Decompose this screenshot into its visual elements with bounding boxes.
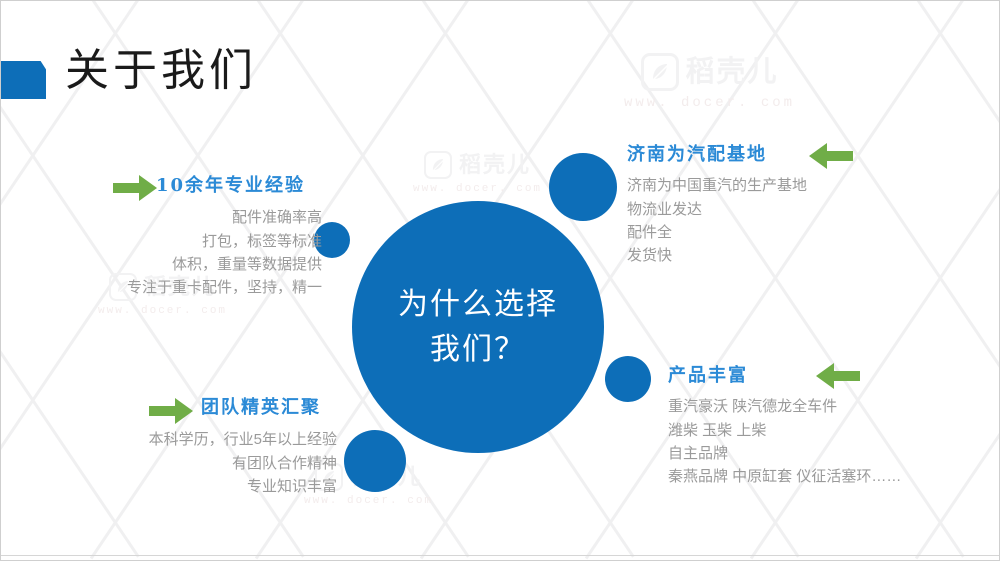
feature-line: 济南为中国重汽的生产基地 [627,174,927,197]
central-circle-label: 为什么选择我们？ [398,282,558,372]
feature-line: 专业知识丰富 [1,475,337,498]
feature-line: 秦燕品牌 中原缸套 仪征活塞环…… [668,465,968,488]
watermark-brand: 稻壳儿 [686,58,779,87]
feature-line: 自主品牌 [668,442,968,465]
feature-block-products: 产品丰富 重汽豪沃 陕汽德龙全车件 潍柴 玉柴 上柴 自主品牌 秦燕品牌 中原缸… [668,364,968,488]
feature-line: 体积，重量等数据提供 [1,253,322,276]
title-accent-shape [1,61,46,99]
feature-line: 专注于重卡配件，坚持，精一 [1,276,322,299]
docer-logo-icon [641,53,679,91]
watermark-top-right: 稻壳儿 www. docer. com [624,53,795,111]
feature-block-experience: 10余年专业经验 配件准确率高 打包，标签等标准 体积，重量等数据提供 专注于重… [1,174,322,299]
feature-body-team: 本科学历，行业5年以上经验 有团队合作精神 专业知识丰富 [1,428,337,498]
feature-line: 配件全 [627,221,927,244]
feature-line: 重汽豪沃 陕汽德龙全车件 [668,395,968,418]
feature-title-experience: 10余年专业经验 [1,174,322,197]
decorative-circle-bottom-right [605,356,651,402]
watermark-brand: 稻壳儿 [459,154,531,176]
feature-title-base: 济南为汽配基地 [627,143,927,166]
feature-line: 物流业发达 [627,198,927,221]
watermark-center-top: 稻壳儿 www. docer. com [413,151,542,195]
feature-body-experience: 配件准确率高 打包，标签等标准 体积，重量等数据提供 专注于重卡配件，坚持，精一 [1,206,322,299]
feature-line: 打包，标签等标准 [1,230,322,253]
docer-logo-icon [424,151,452,179]
feature-body-products: 重汽豪沃 陕汽德龙全车件 潍柴 玉柴 上柴 自主品牌 秦燕品牌 中原缸套 仪征活… [668,395,968,488]
bottom-divider [1,555,999,556]
feature-body-base: 济南为中国重汽的生产基地 物流业发达 配件全 发货快 [627,174,927,267]
central-circle-label-wrap: 为什么选择我们？ [352,201,604,453]
feature-line: 发货快 [627,244,927,267]
feature-block-base: 济南为汽配基地 济南为中国重汽的生产基地 物流业发达 配件全 发货快 [627,143,927,267]
feature-block-team: 团队精英汇聚 本科学历，行业5年以上经验 有团队合作精神 专业知识丰富 [1,396,337,498]
watermark-url: www. docer. com [624,95,795,111]
watermark-url: www. docer. com [98,305,227,317]
feature-title-products: 产品丰富 [668,364,968,387]
page-title: 关于我们 [65,45,257,98]
feature-line: 配件准确率高 [1,206,322,229]
watermark-url: www. docer. com [413,183,542,195]
feature-line: 有团队合作精神 [1,452,337,475]
slide-canvas: 稻壳儿 www. docer. com 稻壳儿 www. docer. com [0,0,1000,561]
feature-line: 本科学历，行业5年以上经验 [1,428,337,451]
feature-title-team: 团队精英汇聚 [1,396,337,419]
feature-line: 潍柴 玉柴 上柴 [668,419,968,442]
